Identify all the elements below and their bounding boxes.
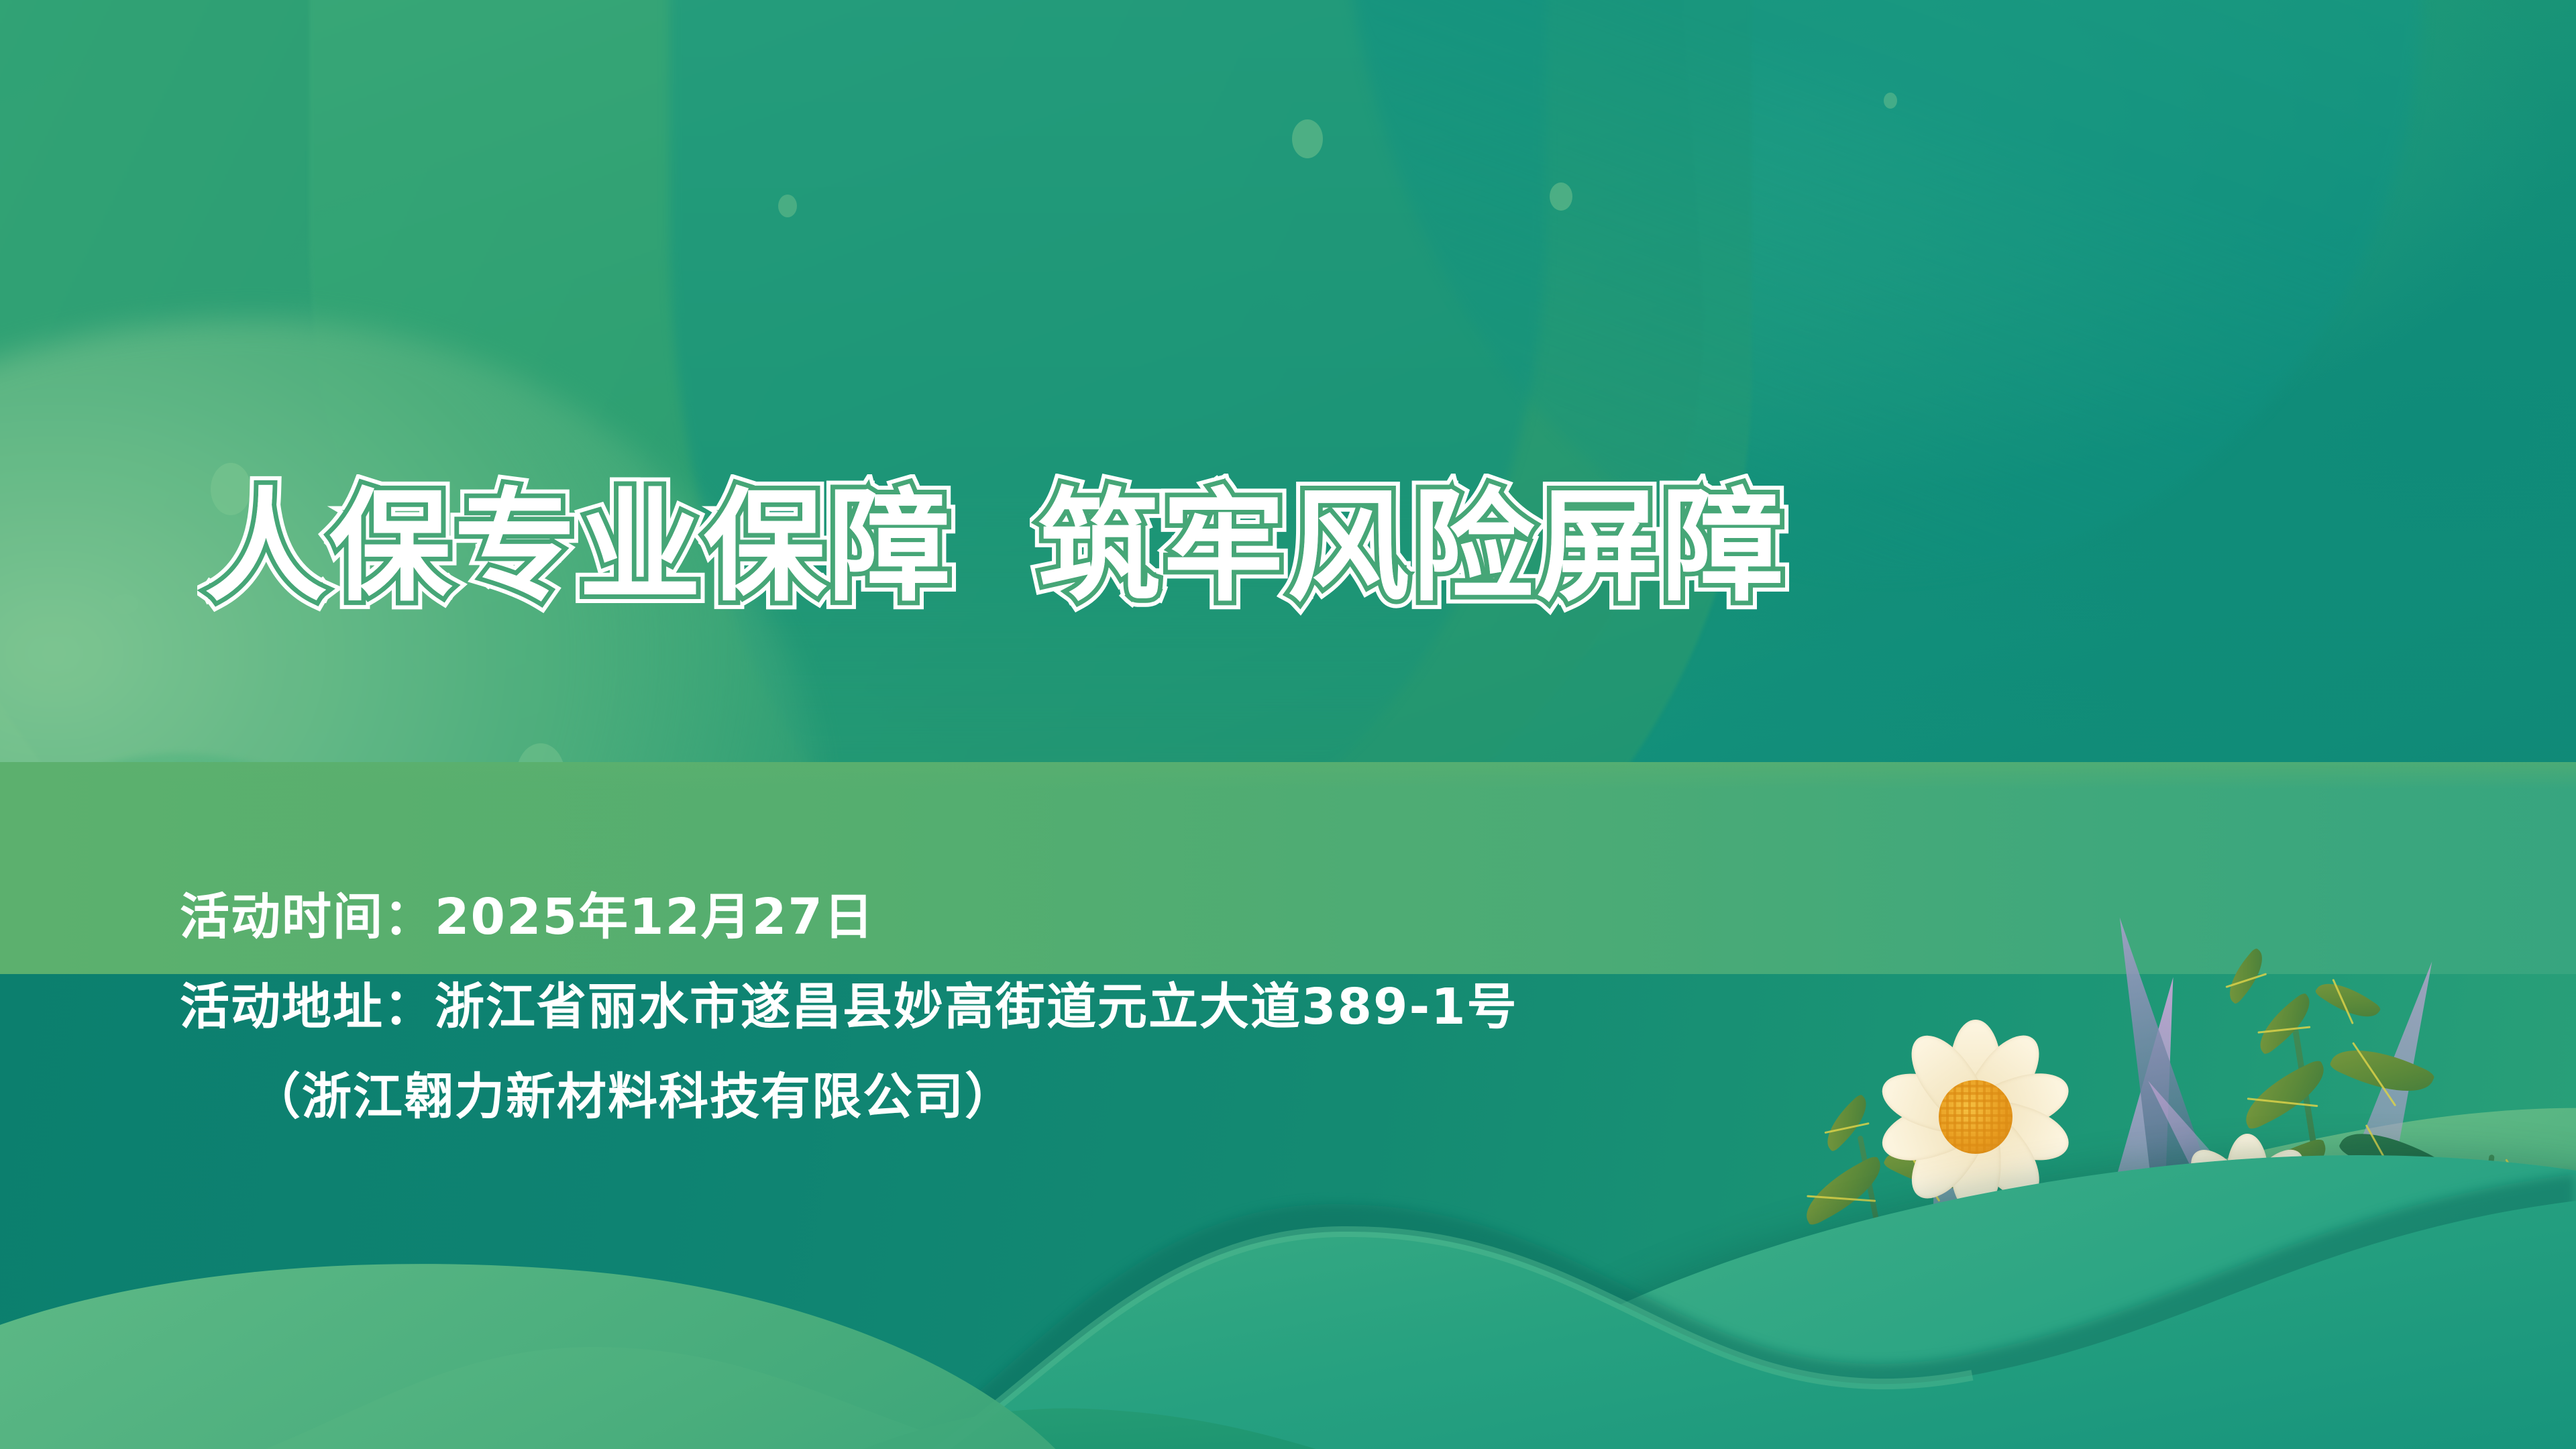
bubble-dot: [1550, 182, 1572, 211]
leaf: [2219, 947, 2273, 1005]
title-segment-2: 筑牢风险屏障 筑牢风险屏障 筑牢风险屏障: [1038, 460, 1786, 633]
event-address-line: 活动地址：浙江省丽水市遂昌县妙高街道元立大道389-1号: [180, 962, 1518, 1052]
event-company-line: （浙江翱力新材料科技有限公司）: [180, 1052, 1518, 1142]
event-time-line: 活动时间：2025年12月27日: [180, 872, 1518, 962]
bubble-dot: [111, 594, 138, 614]
title-segment-1: 人保专业保障 人保专业保障 人保专业保障: [205, 460, 953, 633]
banner-title: 人保专业保障 人保专业保障 人保专业保障 筑牢风险屏障 筑牢风险屏障 筑牢风险屏…: [205, 460, 1786, 633]
bubble-dot: [778, 195, 797, 217]
banner-canvas: 人保专业保障 人保专业保障 人保专业保障 筑牢风险屏障 筑牢风险屏障 筑牢风险屏…: [0, 0, 2576, 1449]
bubble-dot: [1292, 119, 1323, 158]
bubble-dot: [1884, 93, 1897, 109]
title-segment-2-text: 筑牢风险屏障: [1038, 460, 1786, 633]
event-info: 活动时间：2025年12月27日 活动地址：浙江省丽水市遂昌县妙高街道元立大道3…: [180, 872, 1518, 1142]
title-segment-1-text: 人保专业保障: [205, 460, 953, 633]
leaf: [2314, 971, 2382, 1028]
